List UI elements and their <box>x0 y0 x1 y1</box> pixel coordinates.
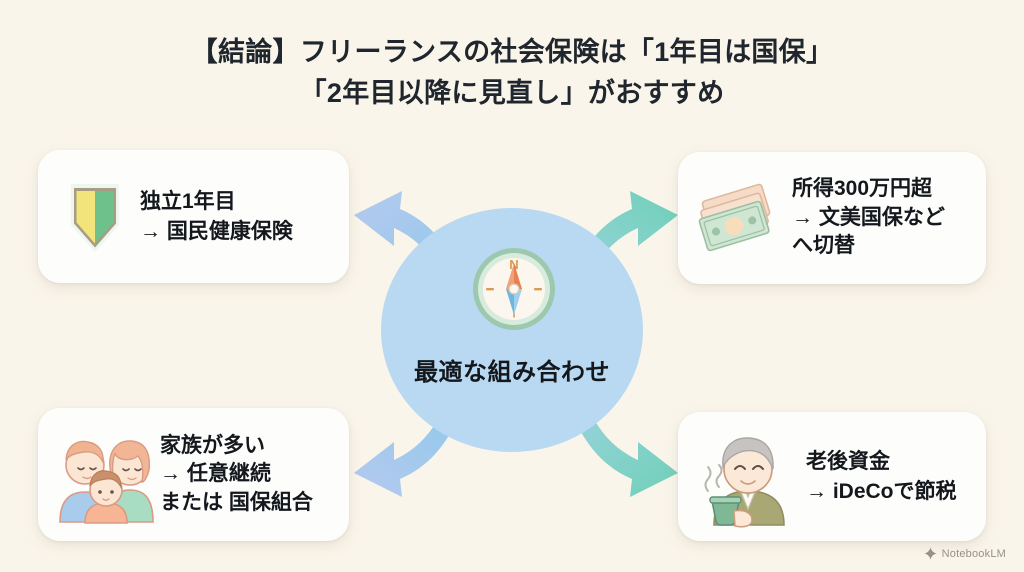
card-income-over-3m-line-1: 所得300万円超 <box>792 175 945 204</box>
card-income-over-3m-line-2: → 文美国保など <box>792 204 945 233</box>
card-large-family-line-3: または 国保組合 <box>160 489 313 518</box>
title-line-1: 【結論】フリーランスの社会保険は「1年目は国保」 <box>0 32 1024 73</box>
card-income-over-3m[interactable]: 所得300万円超 → 文美国保など へ切替 <box>678 152 986 284</box>
watermark-label: NotebookLM <box>942 548 1006 560</box>
card-first-year-text: 独立1年目 → 国民健康保険 <box>140 187 293 247</box>
elderly-person-with-tea-icon <box>694 425 798 529</box>
card-first-year[interactable]: 独立1年目 → 国民健康保険 <box>38 150 349 283</box>
card-first-year-line-2: → 国民健康保険 <box>140 217 293 247</box>
watermark: NotebookLM <box>924 547 1006 560</box>
card-first-year-line-1: 独立1年目 <box>140 187 293 217</box>
card-retirement-funds-line-1: 老後資金 <box>806 447 957 477</box>
page-title: 【結論】フリーランスの社会保険は「1年目は国保」 「2年目以降に見直し」がおすす… <box>0 32 1024 114</box>
card-retirement-funds[interactable]: 老後資金 → iDeCoで節税 <box>678 412 986 541</box>
compass-icon: N | <box>470 245 558 333</box>
card-large-family-line-1: 家族が多い <box>160 432 313 461</box>
card-income-over-3m-line-3: へ切替 <box>792 232 945 261</box>
card-income-over-3m-text: 所得300万円超 → 文美国保など へ切替 <box>792 175 945 261</box>
notebooklm-logo-icon <box>924 547 937 560</box>
banknotes-icon <box>692 178 784 258</box>
card-large-family-line-2: → 任意継続 <box>160 460 313 489</box>
card-large-family[interactable]: 家族が多い → 任意継続 または 国保組合 <box>38 408 349 541</box>
beginner-mark-icon <box>58 174 132 260</box>
center-hub-label: 最適な組み合わせ <box>381 352 643 387</box>
infographic-canvas: 【結論】フリーランスの社会保険は「1年目は国保」 「2年目以降に見直し」がおすす… <box>0 0 1024 572</box>
title-line-2: 「2年目以降に見直し」がおすすめ <box>0 73 1024 114</box>
card-retirement-funds-line-2: → iDeCoで節税 <box>806 477 957 507</box>
family-icon <box>54 424 158 526</box>
card-retirement-funds-text: 老後資金 → iDeCoで節税 <box>806 447 957 507</box>
card-large-family-text: 家族が多い → 任意継続 または 国保組合 <box>160 432 313 518</box>
